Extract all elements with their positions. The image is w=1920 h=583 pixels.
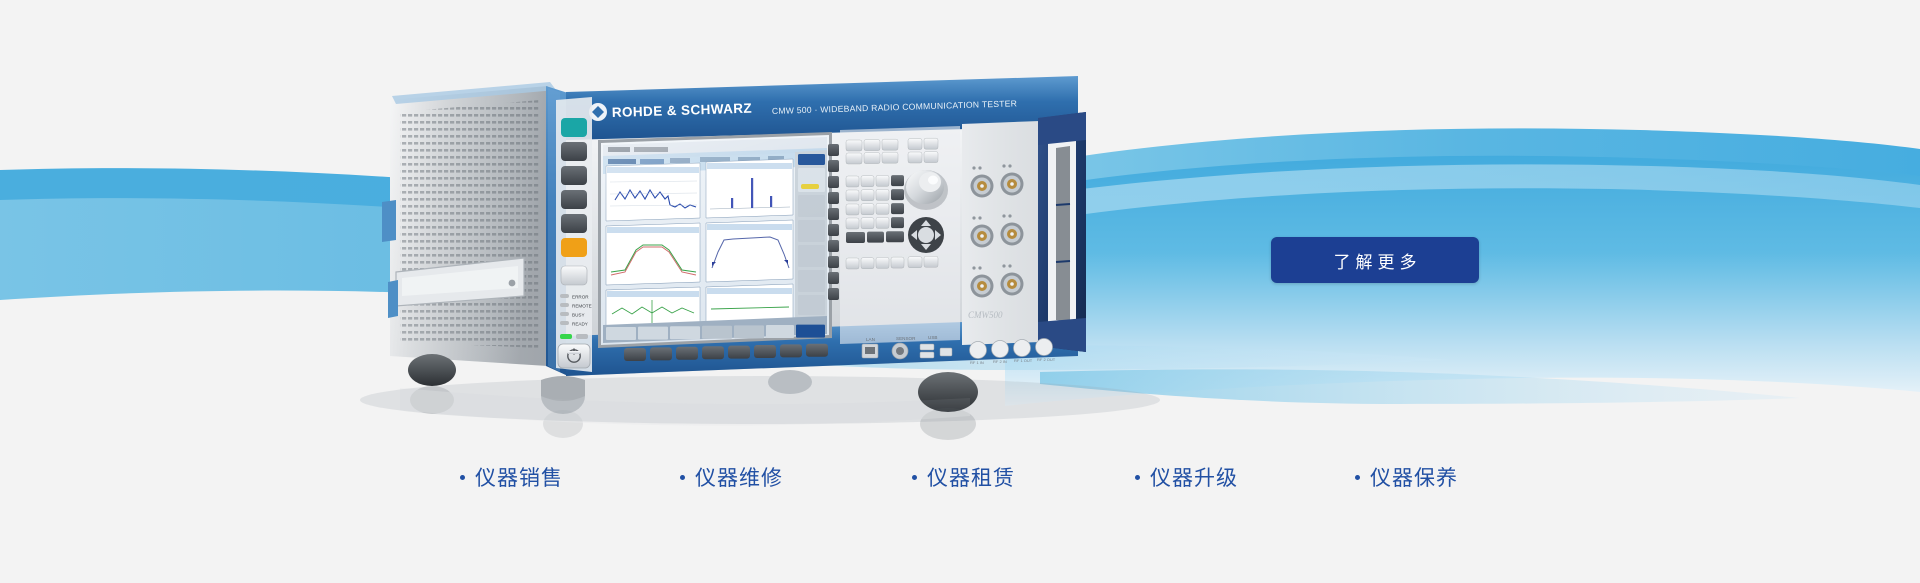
power-button[interactable] [558, 344, 590, 368]
side-tab-lower [388, 280, 398, 318]
service-link-label: 仪器保养 [1370, 462, 1458, 492]
coax-connector-3 [971, 225, 994, 248]
learn-more-label: 了解更多 [1329, 248, 1422, 273]
service-link-label: 仪器租赁 [927, 462, 1015, 492]
func-key [561, 214, 587, 233]
navigation-pad[interactable] [908, 217, 944, 253]
bullet-icon [1135, 475, 1140, 480]
led-label-error: ERROR [572, 295, 589, 300]
hero-banner: ROHDE & SCHWARZ CMW 500 · WIDEBAND RADIO… [0, 0, 1920, 583]
help-key [561, 238, 587, 257]
learn-more-button[interactable]: 了解更多 [1271, 237, 1479, 283]
carry-handle [1038, 112, 1086, 352]
chart-panel-spectral-flatness [606, 287, 700, 327]
shift-key [867, 232, 884, 243]
save-recall-key [561, 166, 587, 185]
preset-key [561, 118, 587, 137]
service-link-rental[interactable]: 仪器租赁 [912, 462, 1015, 492]
bnc-connector-4 [1036, 339, 1053, 356]
module-watermark: CMW500 [968, 310, 1003, 320]
bnc-connector-2 [992, 341, 1009, 358]
side-tab-upper [382, 200, 396, 242]
bnc-label-4: RF 2 OUT [1037, 357, 1056, 362]
usb-label: USB [928, 335, 937, 340]
bullet-icon [1355, 475, 1360, 480]
coax-connector-1 [971, 175, 994, 198]
service-link-sales[interactable]: 仪器销售 [460, 462, 563, 492]
bnc-label-1: RF 1 IN [970, 360, 984, 365]
standby-led [576, 334, 588, 339]
led-label-ready: READY [572, 322, 588, 327]
bullet-icon [460, 475, 465, 480]
rotary-knob[interactable] [904, 170, 948, 210]
foot-middle [768, 370, 812, 394]
lan-label: LAN [866, 337, 875, 342]
bnc-label-3: RF 1 OUT [1014, 358, 1033, 363]
led-label-remote: REMOTE [572, 304, 592, 309]
function-key-column[interactable]: ERROR REMOTE BUSY READY [556, 97, 592, 372]
foot-rear-left [408, 354, 456, 386]
bullet-icon [912, 475, 917, 480]
setup-key [561, 190, 587, 209]
usb-port-1 [920, 344, 934, 350]
coax-connector-5 [971, 275, 994, 298]
backspace-key [846, 232, 865, 243]
bnc-connector-1 [970, 342, 987, 359]
service-link-label: 仪器升级 [1150, 462, 1238, 492]
sensor-label: SENSOR [896, 336, 916, 341]
usb-port-2 [920, 352, 934, 358]
service-link-label: 仪器维修 [695, 462, 783, 492]
usb-port-3 [940, 348, 952, 356]
power-led [560, 334, 572, 339]
keypad-block[interactable] [828, 126, 960, 344]
service-link-repair[interactable]: 仪器维修 [680, 462, 783, 492]
print-key [561, 142, 587, 161]
led-label-busy: BUSY [572, 313, 585, 318]
service-link-label: 仪器销售 [475, 462, 563, 492]
service-link-upgrade[interactable]: 仪器升级 [1135, 462, 1238, 492]
rf-connector-module[interactable]: CMW500 [962, 121, 1040, 345]
coax-connector-2 [1001, 173, 1024, 196]
coax-connector-4 [1001, 223, 1024, 246]
side-vent-panel [382, 82, 556, 366]
enter-key [886, 231, 904, 242]
bnc-label-2: RF 2 IN [993, 359, 1007, 364]
bullet-icon [680, 475, 685, 480]
service-links: 仪器销售 仪器维修 仪器租赁 仪器升级 仪器保养 [0, 462, 1920, 508]
service-link-maintenance[interactable]: 仪器保养 [1355, 462, 1458, 492]
bnc-connector-3 [1014, 340, 1031, 357]
sys-key [561, 266, 587, 285]
coax-connector-6 [1001, 273, 1024, 296]
instrument-screen[interactable] [598, 132, 832, 348]
